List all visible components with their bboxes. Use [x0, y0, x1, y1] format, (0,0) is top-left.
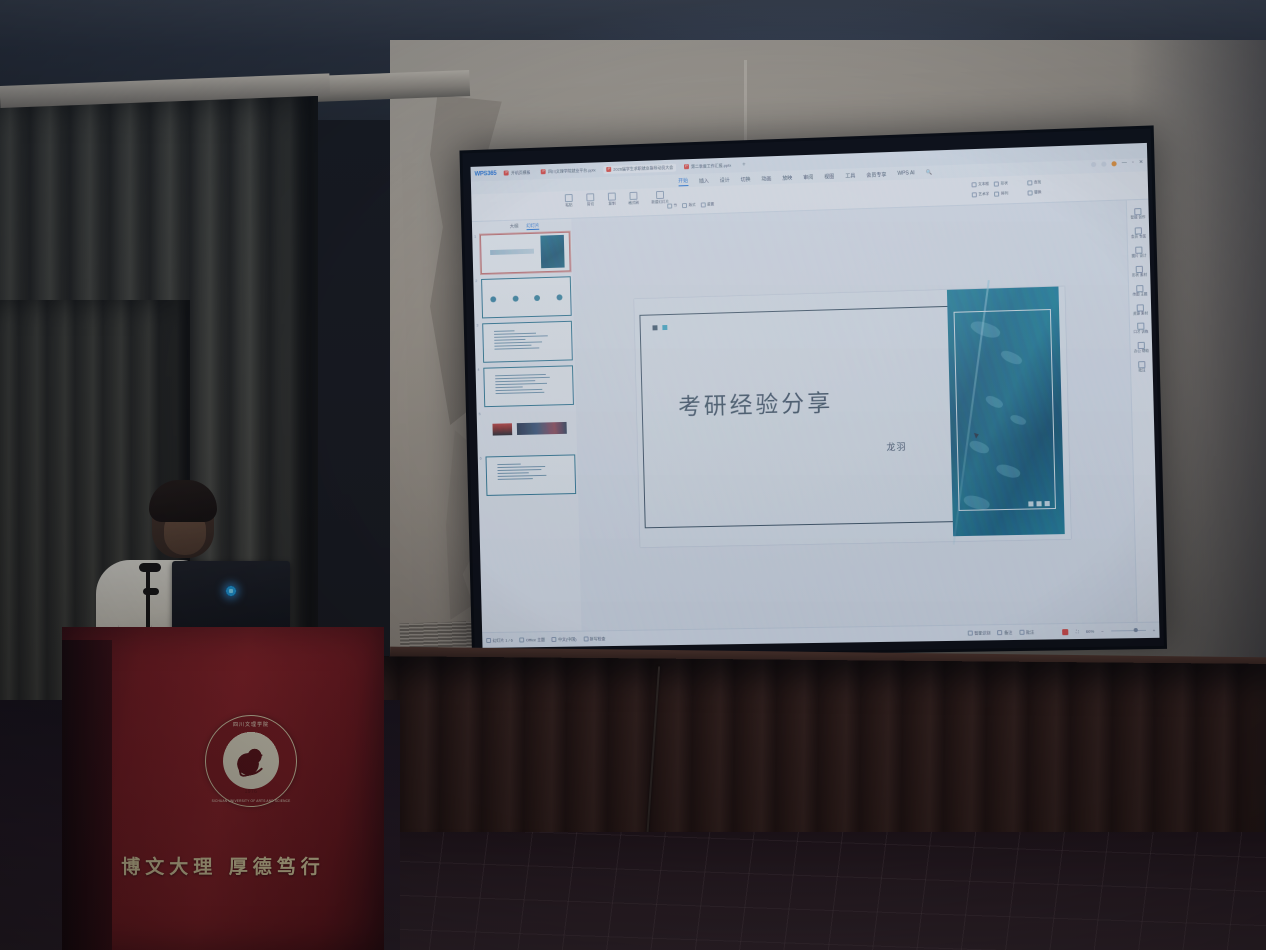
notes-button[interactable]: 备注	[998, 629, 1013, 635]
format-brush-label: 格式刷	[628, 201, 639, 206]
find-button[interactable]: 查找	[1027, 180, 1041, 186]
image-design-icon	[1135, 246, 1142, 253]
document-tab-label: 开机页模板	[511, 169, 531, 176]
shape-button[interactable]: 形状	[994, 181, 1008, 187]
ppt-file-icon	[541, 169, 546, 174]
presenter-head	[152, 484, 214, 558]
sidebar-item-help[interactable]: 办公 帮助	[1132, 342, 1151, 355]
replace-label: 替换	[1034, 190, 1041, 195]
find-label: 查找	[1034, 180, 1041, 185]
theme-status[interactable]: Office 主题	[520, 637, 545, 643]
slide-counter[interactable]: 幻灯片 1 / 6	[486, 637, 513, 643]
wood-paneling	[369, 656, 1266, 854]
wps-office-window: WPS365 开机页模板 四川文理学院就业平台.pptx 2026届学生求职就业…	[471, 143, 1160, 648]
status-left-group: 幻灯片 1 / 6 Office 主题 中文(中国) 拼写检查	[486, 636, 605, 644]
slide-editing-area[interactable]: 考研经验分享 龙羽	[571, 200, 1136, 630]
copy-button[interactable]: 复制	[604, 192, 620, 206]
status-right-group: 智能识别 备注 批注 ⛶	[968, 627, 1156, 636]
slide-author[interactable]: 龙羽	[886, 440, 906, 454]
decor-squares-group	[1028, 501, 1049, 506]
leaf-inner-frame	[954, 309, 1056, 511]
university-emblem: 四川文理学院 1976 SICHUAN UNIVERSITY OF ARTS A…	[205, 715, 297, 807]
comment-button[interactable]: 批注	[1019, 629, 1034, 635]
workspace: 大纲 幻灯片 1 2	[472, 200, 1159, 633]
paste-icon	[565, 194, 573, 202]
textbox-button[interactable]: 文本框	[971, 182, 989, 188]
zoom-in-button[interactable]: +	[1153, 628, 1156, 633]
cut-label: 剪切	[587, 202, 594, 207]
theme-icon	[520, 637, 525, 642]
emblem-english-name: SICHUAN UNIVERSITY OF ARTS AND SCIENCE	[206, 799, 296, 803]
ribbon-tab-home[interactable]: 开始	[678, 177, 688, 186]
thumbnail-pane-tabs[interactable]: 大纲 幻灯片	[480, 222, 570, 232]
ppt-file-icon	[684, 164, 689, 169]
lectern-motto: 博文大理 厚德笃行	[62, 852, 384, 879]
arrange-icon	[994, 191, 999, 196]
ribbon-tab-view[interactable]: 视图	[824, 173, 834, 180]
arrange-label: 排列	[1001, 191, 1008, 196]
slide-counter-label: 幻灯片 1 / 6	[492, 637, 512, 643]
play-slideshow-icon[interactable]	[1063, 629, 1069, 635]
sidebar-label: 资源 素材	[1133, 312, 1148, 316]
new-slide-icon	[656, 191, 664, 199]
thumbnail-number: 3	[476, 323, 478, 327]
thumbnail-number: 1	[474, 235, 476, 239]
presenter-hair	[149, 480, 217, 522]
ai-label: 智能识别	[974, 630, 990, 636]
slide-thumbnail-pane[interactable]: 大纲 幻灯片 1 2	[472, 219, 582, 632]
laptop-logo-glow	[226, 586, 237, 597]
phoenix-icon	[236, 746, 266, 776]
leaf-photo[interactable]	[947, 287, 1065, 537]
ai-icon	[968, 631, 973, 636]
comment-icon	[1019, 630, 1024, 635]
sidebar-label: 形状 素材	[1132, 273, 1147, 277]
ribbon-group-slide: 节 版式 重置	[667, 202, 714, 209]
notes-icon	[998, 630, 1003, 635]
minimize-icon[interactable]: —	[1122, 160, 1127, 166]
sidebar-label: 会员 专属	[1131, 235, 1146, 239]
emblem-center	[223, 733, 279, 789]
thumbnail-item[interactable]: 2	[481, 276, 572, 318]
document-tab[interactable]: 第二季度工作汇报.pptx	[681, 161, 734, 171]
decor-square-cyan	[662, 325, 667, 330]
microphone-arm	[139, 563, 161, 572]
section-label: 节	[674, 203, 678, 208]
sidebar-item-comment[interactable]: 批注	[1132, 361, 1151, 374]
thumbnail-preview-2[interactable]	[481, 276, 572, 318]
thumb-text-lines	[494, 329, 563, 352]
spellcheck-icon	[583, 636, 588, 641]
close-icon[interactable]: ✕	[1139, 159, 1143, 165]
theme-label: Office 主题	[526, 637, 545, 643]
replace-button[interactable]: 替换	[1027, 190, 1041, 196]
thumb-photo-2	[517, 422, 566, 435]
avatar[interactable]	[1111, 161, 1116, 166]
shape-icon	[994, 181, 999, 186]
new-tab-button[interactable]: +	[742, 162, 746, 168]
replace-icon	[1027, 190, 1032, 195]
paste-label: 粘贴	[565, 203, 572, 208]
thumb-leaf-image	[541, 235, 565, 268]
thumb-text-lines	[495, 373, 564, 396]
ribbon-tab-insert[interactable]: 插入	[699, 177, 709, 184]
tab-slides[interactable]: 幻灯片	[526, 223, 539, 230]
sidebar-label: 图片 设计	[1132, 254, 1147, 258]
ribbon-tab-animation[interactable]: 动画	[761, 175, 771, 182]
thumbnail-preview-5[interactable]	[484, 410, 575, 452]
document-tab-label: 2026届学生求职就业指导动员大会	[613, 164, 673, 172]
section-button[interactable]: 节	[667, 203, 677, 208]
language-label: 中文(中国)	[558, 636, 576, 642]
laptop	[172, 561, 290, 633]
wordart-icon	[972, 192, 977, 197]
search-icon[interactable]: 🔍	[926, 170, 932, 176]
slide-title[interactable]: 考研经验分享	[678, 383, 834, 421]
thumb-text-lines	[497, 462, 566, 481]
slide-count-icon	[486, 638, 491, 643]
shape-material-icon	[1136, 265, 1143, 272]
ribbon-group-clipboard: 粘贴 剪切 复制 格式刷	[561, 191, 673, 209]
copy-icon	[608, 193, 616, 201]
zoom-slider[interactable]	[1111, 630, 1146, 632]
layout-button[interactable]: 版式	[682, 203, 696, 208]
find-icon	[1027, 180, 1032, 185]
layout-label: 版式	[688, 203, 695, 208]
document-tab[interactable]: 开机页模板	[501, 168, 533, 177]
ribbon-tab-tools[interactable]: 工具	[845, 172, 855, 179]
reset-label: 重置	[707, 202, 714, 207]
arrange-button[interactable]: 排列	[994, 191, 1008, 197]
copy-label: 复制	[608, 201, 615, 206]
wps-logo: WPS365	[475, 170, 497, 177]
thumbnail-number: 6	[480, 457, 482, 461]
thumbnail-item[interactable]: 3	[482, 321, 573, 363]
thumbnail-preview-4[interactable]	[483, 365, 574, 407]
thumbnail-item[interactable]: 6	[486, 454, 577, 496]
language-icon	[552, 637, 557, 642]
thumbnail-item[interactable]: 1	[480, 232, 571, 274]
spellcheck-status[interactable]: 拼写检查	[583, 636, 605, 642]
zoom-out-button[interactable]: −	[1101, 629, 1104, 634]
format-brush-icon	[629, 192, 637, 200]
reset-icon	[701, 202, 706, 207]
format-brush-button[interactable]: 格式刷	[626, 192, 642, 206]
ribbon-tab-slideshow[interactable]: 放映	[782, 174, 792, 181]
projected-image: WPS365 开机页模板 四川文理学院就业平台.pptx 2026届学生求职就业…	[471, 143, 1160, 648]
sidebar-item-shape-material[interactable]: 形状 素材	[1130, 265, 1149, 278]
ai-recognize-button[interactable]: 智能识别	[968, 630, 991, 636]
thumbnail-number: 2	[475, 279, 477, 283]
comment-label: 批注	[1026, 629, 1034, 635]
wordart-label: 艺术字	[978, 192, 989, 197]
cut-button[interactable]: 剪切	[582, 193, 598, 207]
sidebar-label: 口才 训练	[1133, 331, 1148, 335]
document-tab-active[interactable]: 2026届学生求职就业指导动员大会	[603, 163, 676, 173]
ribbon-tab-design[interactable]: 设计	[720, 176, 730, 183]
document-tab[interactable]: 四川文理学院就业平台.pptx	[538, 166, 598, 176]
sidebar-item-vip[interactable]: 会员 专属	[1129, 227, 1148, 240]
ribbon-tab-wps-ai[interactable]: WPS AI	[897, 170, 914, 177]
sidebar-item-ai-create[interactable]: 智能 创作	[1129, 208, 1148, 221]
share-icon[interactable]	[1091, 161, 1096, 166]
maximize-icon[interactable]: ▫	[1132, 160, 1134, 166]
sidebar-label: 传图 主题	[1132, 293, 1147, 297]
projection-screen: WPS365 开机页模板 四川文理学院就业平台.pptx 2026届学生求职就业…	[459, 125, 1167, 659]
thumbnail-item[interactable]: 5	[484, 410, 575, 452]
section-icon	[667, 204, 672, 209]
thumb-photo-1	[493, 424, 513, 436]
thumbnail-item[interactable]: 4	[483, 365, 574, 407]
tab-outline[interactable]: 大纲	[510, 223, 519, 230]
ribbon-tab-member[interactable]: 会员专享	[866, 171, 886, 179]
thumbnail-preview-3[interactable]	[482, 321, 573, 363]
spellcheck-label: 拼写检查	[590, 636, 606, 642]
lectern-side-panel	[62, 640, 112, 950]
thumb-four-dots	[482, 294, 570, 303]
sidebar-label: 智能 创作	[1131, 216, 1146, 220]
document-tab-label: 四川文理学院就业平台.pptx	[548, 167, 596, 175]
resource-icon	[1137, 304, 1144, 311]
emblem-year: 1976	[206, 789, 296, 795]
wps-doc-icon	[504, 170, 509, 175]
wordart-button[interactable]: 艺术字	[972, 192, 990, 198]
paste-button[interactable]: 粘贴	[561, 194, 577, 208]
zoom-level[interactable]: 60%	[1086, 629, 1094, 634]
textbox-icon	[971, 182, 976, 187]
shape-label: 形状	[1001, 181, 1008, 186]
decor-square-dark	[652, 325, 657, 330]
scissors-icon	[586, 193, 594, 201]
sidebar-item-speech[interactable]: 口才 训练	[1131, 323, 1150, 336]
sidebar-item-resource[interactable]: 资源 素材	[1131, 304, 1150, 317]
notes-label: 备注	[1004, 629, 1012, 635]
current-slide[interactable]: 考研经验分享 龙羽	[634, 286, 1071, 547]
lecture-hall-photo: WPS365 开机页模板 四川文理学院就业平台.pptx 2026届学生求职就业…	[0, 0, 1266, 950]
language-status[interactable]: 中文(中国)	[552, 636, 577, 642]
fullscreen-icon[interactable]: ⛶	[1076, 629, 1079, 634]
ppt-file-icon	[606, 167, 611, 172]
document-tab-label: 第二季度工作汇报.pptx	[691, 162, 731, 169]
layout-icon	[682, 203, 687, 208]
thumb-title-placeholder	[490, 249, 534, 255]
thumbnail-preview-1[interactable]	[480, 232, 571, 274]
ribbon-group-right-a: 文本框 形状 查找	[971, 180, 1041, 187]
sidebar-label: 批注	[1138, 369, 1145, 373]
cloud-icon[interactable]	[1101, 161, 1106, 166]
thumbnail-number: 4	[477, 368, 479, 372]
ribbon-tab-review[interactable]: 审阅	[803, 173, 813, 180]
thumbnail-number: 5	[479, 412, 481, 416]
sidebar-item-theme[interactable]: 传图 主题	[1131, 284, 1150, 297]
thumbnail-preview-6[interactable]	[486, 454, 577, 496]
reset-button[interactable]: 重置	[701, 202, 715, 207]
sidebar-label: 办公 帮助	[1134, 350, 1149, 354]
sidebar-item-image-design[interactable]: 图片 设计	[1130, 246, 1149, 259]
emblem-chinese-name: 四川文理学院	[206, 721, 296, 728]
textbox-label: 文本框	[978, 182, 989, 187]
theme-icon	[1136, 285, 1143, 292]
ribbon-group-right-b: 艺术字 排列 替换	[972, 190, 1042, 197]
ribbon-tab-transition[interactable]: 切换	[740, 175, 750, 182]
